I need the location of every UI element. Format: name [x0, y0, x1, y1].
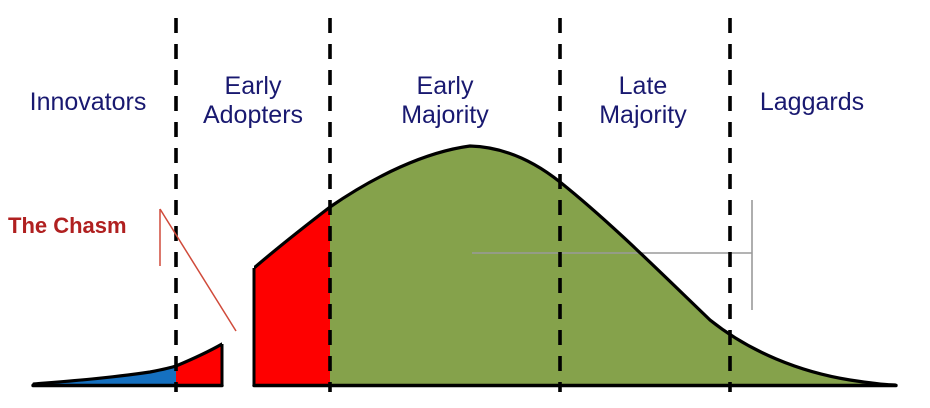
segment-label-early-majority: Early Majority: [365, 72, 525, 130]
segment-label-early-adopters: Early Adopters: [178, 72, 328, 130]
adoption-curve-svg: [0, 0, 930, 408]
adoption-lifecycle-diagram: Innovators Early Adopters Early Majority…: [0, 0, 930, 408]
segment-label-late-majority: Late Majority: [568, 72, 718, 130]
segment-label-laggards: Laggards: [732, 88, 892, 117]
majority-laggards-fill: [254, 146, 895, 385]
curve-fills: [34, 146, 895, 385]
chasm-pointer: [160, 209, 236, 331]
chasm-pointer-line: [160, 209, 236, 331]
chasm-label: The Chasm: [8, 214, 127, 238]
segment-label-innovators: Innovators: [13, 88, 163, 117]
